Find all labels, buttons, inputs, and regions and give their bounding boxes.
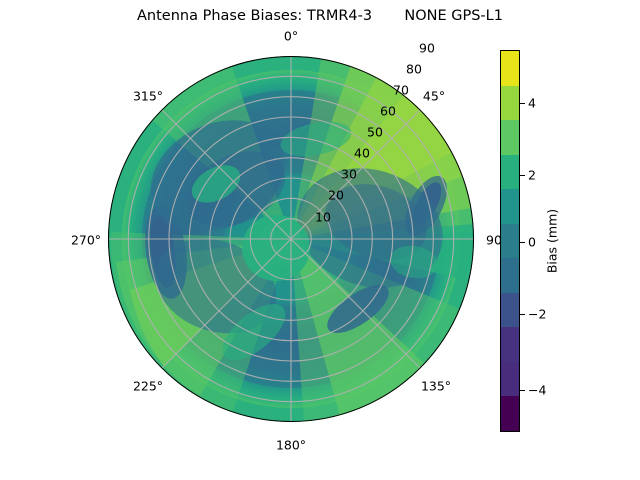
colorbar-band-10: [501, 362, 519, 397]
radial-tick-30: 30: [341, 167, 357, 182]
colorbar-ticklabel-neg2: −2: [528, 307, 546, 322]
radial-tick-90: 90: [419, 41, 435, 56]
colorbar-gradient: [500, 50, 520, 432]
azimuth-label-45: 45°: [423, 89, 445, 104]
colorbar-band-6: [501, 224, 519, 259]
colorbar-band-8: [501, 293, 519, 328]
azimuth-label-315: 315°: [133, 89, 163, 104]
colorbar-ticklabel-neg4: −4: [528, 383, 546, 398]
colorbar-ticklabel-2: 2: [528, 168, 536, 183]
polar-contour-field: [108, 56, 474, 422]
colorbar-band-5: [501, 189, 519, 224]
radial-tick-50: 50: [367, 125, 383, 140]
colorbar-tickmark-neg2: [520, 314, 525, 315]
colorbar[interactable]: 4 2 0 −2 −4: [500, 50, 520, 432]
figure-canvas: Antenna Phase Biases: TRMR4-3 NONE GPS-L…: [0, 0, 640, 480]
colorbar-band-9: [501, 327, 519, 362]
azimuth-label-270: 270°: [71, 233, 101, 248]
colorbar-ticklabel-0: 0: [528, 235, 536, 250]
radial-tick-60: 60: [380, 104, 396, 119]
colorbar-tickmark-0: [520, 242, 525, 243]
colorbar-band-4: [501, 155, 519, 190]
colorbar-tickmark-neg4: [520, 390, 525, 391]
radial-tick-40: 40: [354, 146, 370, 161]
polar-axes[interactable]: 10 20 30 40 50 60 70 80 90: [108, 56, 474, 422]
radial-tick-70: 70: [393, 83, 409, 98]
colorbar-ticklabel-4: 4: [528, 96, 536, 111]
azimuth-label-0: 0°: [284, 29, 298, 44]
polar-field-clip: [108, 56, 474, 422]
colorbar-band-1: [501, 51, 519, 86]
colorbar-band-2: [501, 86, 519, 121]
colorbar-band-3: [501, 120, 519, 155]
polar-grid-spokes: [108, 56, 474, 422]
radial-tick-80: 80: [406, 62, 422, 77]
azimuth-label-180: 180°: [276, 438, 306, 453]
page-title: Antenna Phase Biases: TRMR4-3 NONE GPS-L…: [0, 8, 640, 24]
colorbar-tickmark-4: [520, 103, 525, 104]
radial-tick-20: 20: [328, 188, 344, 203]
colorbar-axis-label: Bias (mm): [545, 209, 560, 273]
colorbar-band-7: [501, 258, 519, 293]
azimuth-label-135: 135°: [421, 379, 451, 394]
radial-tick-10: 10: [315, 210, 331, 225]
azimuth-label-225: 225°: [133, 379, 163, 394]
colorbar-band-11: [501, 396, 519, 431]
colorbar-tickmark-2: [520, 175, 525, 176]
